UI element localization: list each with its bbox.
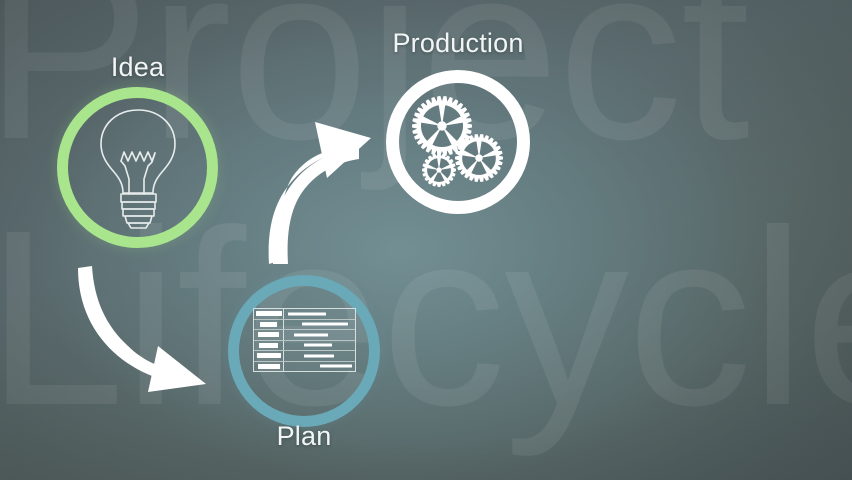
gantt-task-cell	[254, 330, 284, 340]
gear-medium	[455, 134, 503, 182]
node-label-production: Production	[372, 28, 544, 59]
gantt-timeline-cell	[284, 362, 355, 372]
gantt-task-chip	[257, 353, 281, 358]
gantt-task-cell	[254, 309, 284, 319]
gantt-task-chip	[258, 364, 280, 369]
curved-arrow-plan-to-production	[255, 118, 375, 264]
gantt-timeline-cell	[284, 330, 355, 340]
gantt-bar	[288, 312, 326, 315]
gantt-row	[254, 341, 355, 352]
gantt-bar	[294, 333, 328, 336]
lightbulb-icon	[92, 106, 184, 230]
gear-small	[422, 153, 456, 187]
gantt-row	[254, 320, 355, 331]
node-label-plan: Plan	[228, 421, 380, 452]
gantt-row	[254, 330, 355, 341]
gantt-task-cell	[254, 351, 284, 361]
gantt-task-chip	[260, 322, 277, 327]
gantt-task-chip	[259, 343, 278, 348]
gantt-bar	[320, 365, 352, 368]
gantt-task-cell	[254, 320, 284, 330]
gantt-timeline-cell	[284, 341, 355, 351]
gantt-task-cell	[254, 341, 284, 351]
gantt-bar	[302, 323, 348, 326]
curved-arrow-idea-to-plan	[74, 258, 210, 394]
gantt-timeline-cell	[284, 351, 355, 361]
gantt-bar	[304, 344, 332, 347]
gantt-row	[254, 351, 355, 362]
gantt-row	[254, 309, 355, 320]
gantt-task-cell	[254, 362, 284, 372]
gantt-bar	[304, 354, 334, 357]
diagram-canvas: Project Lifecycle Idea Production Plan	[0, 0, 852, 480]
gantt-row	[254, 362, 355, 372]
gantt-timeline-cell	[284, 320, 355, 330]
node-label-idea: Idea	[57, 52, 218, 83]
gantt-chart-icon	[253, 308, 356, 372]
gantt-task-chip	[258, 332, 279, 337]
gantt-task-chip	[256, 311, 282, 316]
gears-icon	[404, 88, 512, 196]
gantt-timeline-cell	[284, 309, 355, 319]
